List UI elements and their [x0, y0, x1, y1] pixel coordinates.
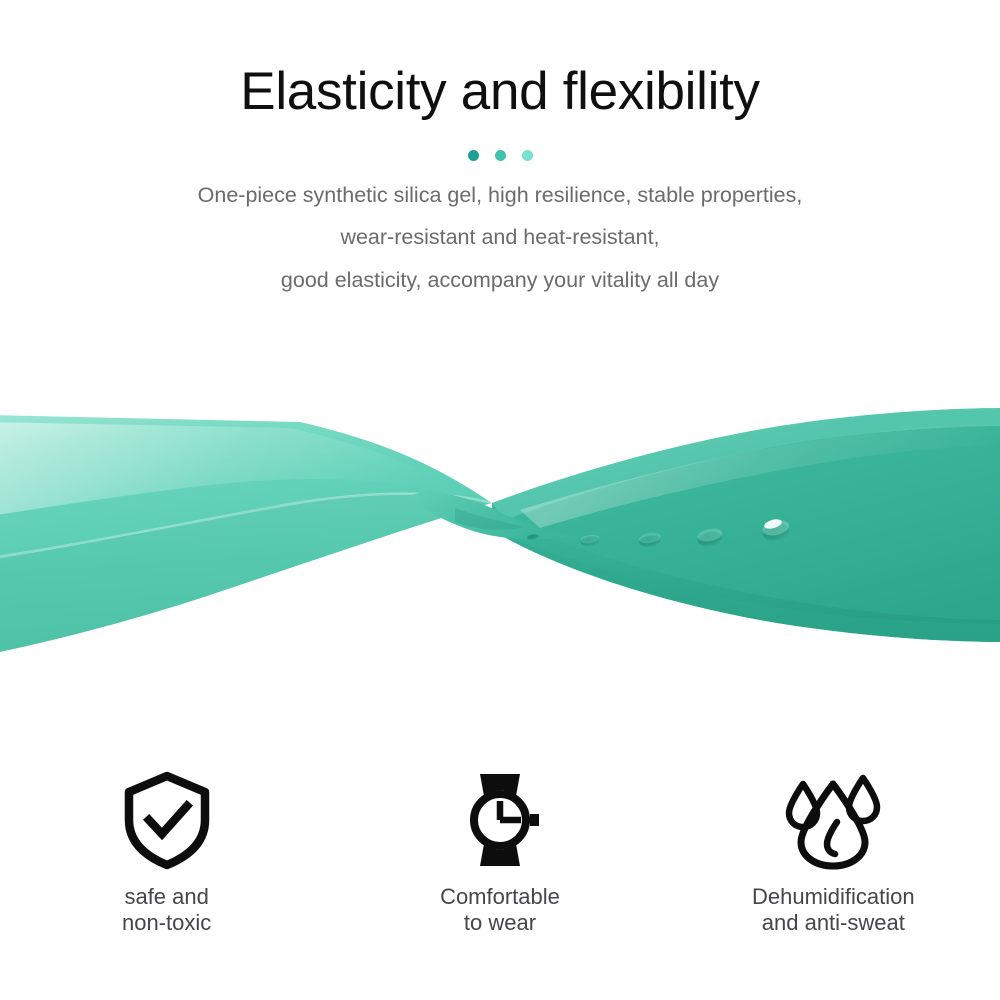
description-line-2: wear-resistant and heat-resistant, [0, 227, 1000, 249]
marketing-banner-page: Elasticity and flexibility One-piece syn… [0, 0, 1000, 1000]
feature-caption-line: and anti-sweat [752, 910, 915, 936]
feature-row: safe and non-toxic [0, 770, 1000, 950]
wristwatch-icon [457, 770, 543, 870]
dot-dark-icon [468, 150, 479, 161]
page-title: Elasticity and flexibility [0, 62, 1000, 123]
shield-check-icon [121, 770, 213, 870]
feature-caption-line: Comfortable [440, 884, 560, 910]
feature-caption-line: safe and [122, 884, 211, 910]
header-block: Elasticity and flexibility One-piece syn… [0, 0, 1000, 312]
description-text: One-piece synthetic silica gel, high res… [0, 185, 1000, 292]
feature-caption: safe and non-toxic [122, 884, 211, 935]
feature-caption: Comfortable to wear [440, 884, 560, 935]
feature-caption-line: non-toxic [122, 910, 211, 936]
dot-mid-icon [495, 150, 506, 161]
feature-item-safe-non-toxic: safe and non-toxic [0, 770, 333, 935]
feature-item-comfortable-to-wear: Comfortable to wear [333, 770, 666, 935]
feature-caption: Dehumidification and anti-sweat [752, 884, 915, 935]
product-image-twisted-band [0, 370, 1000, 690]
water-drops-icon [781, 770, 885, 870]
decorative-dots [0, 149, 1000, 163]
description-line-3: good elasticity, accompany your vitality… [0, 270, 1000, 292]
description-line-1: One-piece synthetic silica gel, high res… [0, 185, 1000, 207]
feature-caption-line: Dehumidification [752, 884, 915, 910]
dot-light-icon [522, 150, 533, 161]
feature-item-dehumidification: Dehumidification and anti-sweat [667, 770, 1000, 935]
feature-caption-line: to wear [440, 910, 560, 936]
